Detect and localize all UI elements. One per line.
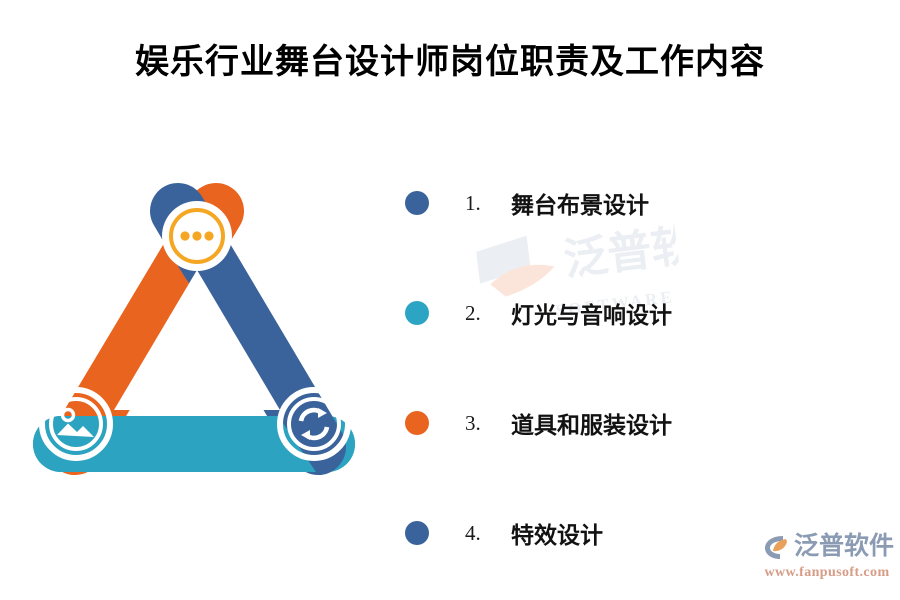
list-item-number: 3. (429, 411, 511, 436)
list-item-label: 道具和服装设计 (511, 406, 672, 440)
list-item-number: 1. (429, 191, 511, 216)
list-item-number: 2. (429, 301, 511, 326)
brand-url: www.fanpusoft.com (762, 565, 892, 581)
page-title: 娱乐行业舞台设计师岗位职责及工作内容 (0, 40, 900, 86)
bullet-icon (405, 191, 429, 215)
slide-canvas: 娱乐行业舞台设计师岗位职责及工作内容 (0, 0, 900, 600)
triangle-process-diagram (30, 180, 360, 475)
bullet-icon (405, 521, 429, 545)
ellipsis-icon (162, 201, 232, 271)
list-item-label: 舞台布景设计 (511, 186, 649, 220)
list-item-label: 特效设计 (511, 516, 603, 550)
list-item[interactable]: 3. 道具和服装设计 (405, 368, 875, 478)
fanpu-logo-mark (762, 532, 792, 562)
list-item[interactable]: 2. 灯光与音响设计 (405, 258, 875, 368)
list-item-label: 灯光与音响设计 (511, 296, 672, 330)
responsibilities-list: 1. 舞台布景设计 2. 灯光与音响设计 3. 道具和服装设计 4. 特效设计 (405, 148, 875, 588)
list-item[interactable]: 1. 舞台布景设计 (405, 148, 875, 258)
list-item-number: 4. (429, 521, 511, 546)
brand-logo: 泛普软件 www.fanpusoft.com (762, 530, 892, 588)
bullet-icon (405, 301, 429, 325)
brand-name: 泛普软件 (794, 532, 894, 562)
bullet-icon (405, 411, 429, 435)
